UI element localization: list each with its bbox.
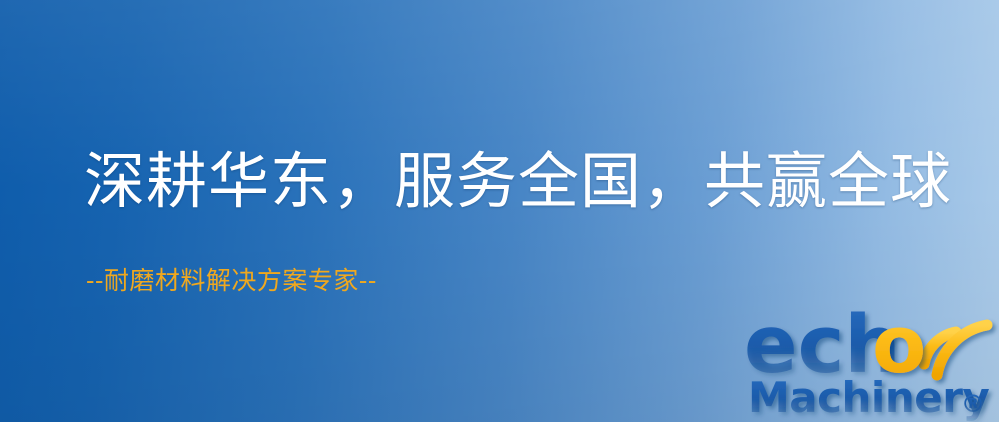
logo-machinery-text: Machinery (748, 373, 989, 422)
banner-headline: 深耕华东，服务全国，共赢全球 (84, 151, 952, 212)
echo-machinery-logo: ech o Machinery ® (742, 296, 999, 422)
banner-subtitle: --耐磨材料解决方案专家-- (86, 268, 377, 293)
logo-trademark-symbol: ® (961, 390, 985, 418)
promotional-banner: 深耕华东，服务全国，共赢全球 --耐磨材料解决方案专家-- (0, 0, 999, 422)
echo-wave-arcs-icon (924, 325, 987, 375)
